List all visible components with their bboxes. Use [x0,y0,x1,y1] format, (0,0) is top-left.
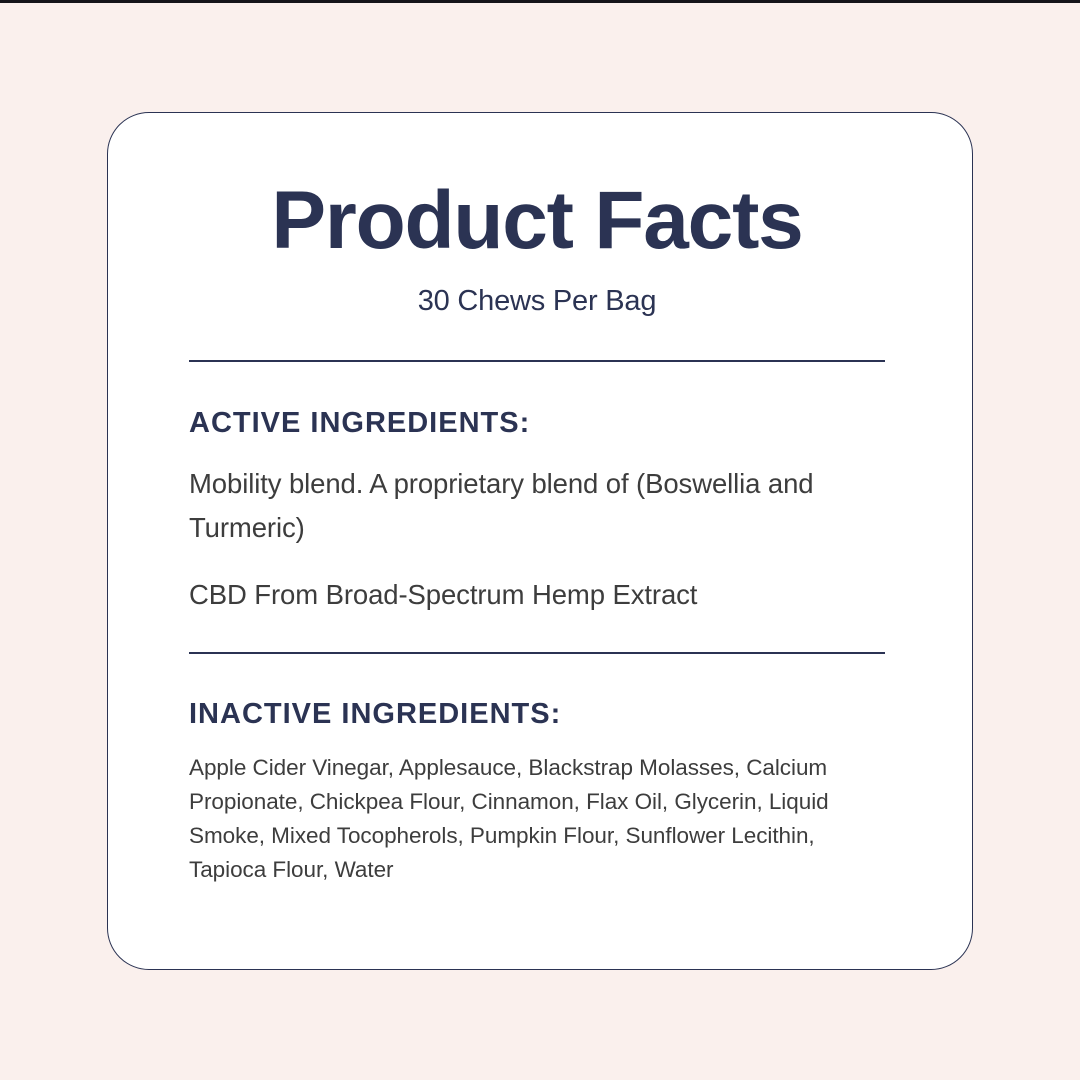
page-title: Product Facts [189,113,885,262]
active-ingredients-line-1: Mobility blend. A proprietary blend of (… [189,440,885,551]
product-facts-card: Product Facts 30 Chews Per Bag ACTIVE IN… [107,112,973,970]
top-edge-rule [0,0,1080,3]
active-ingredients-heading: ACTIVE INGREDIENTS: [189,362,885,440]
active-ingredients-line-2: CBD From Broad-Spectrum Hemp Extract [189,551,885,618]
serving-subtitle: 30 Chews Per Bag [189,262,885,318]
card-content: Product Facts 30 Chews Per Bag ACTIVE IN… [189,113,885,969]
inactive-ingredients-list: Apple Cider Vinegar, Applesauce, Blackst… [189,731,885,888]
inactive-ingredients-heading: INACTIVE INGREDIENTS: [189,654,885,731]
